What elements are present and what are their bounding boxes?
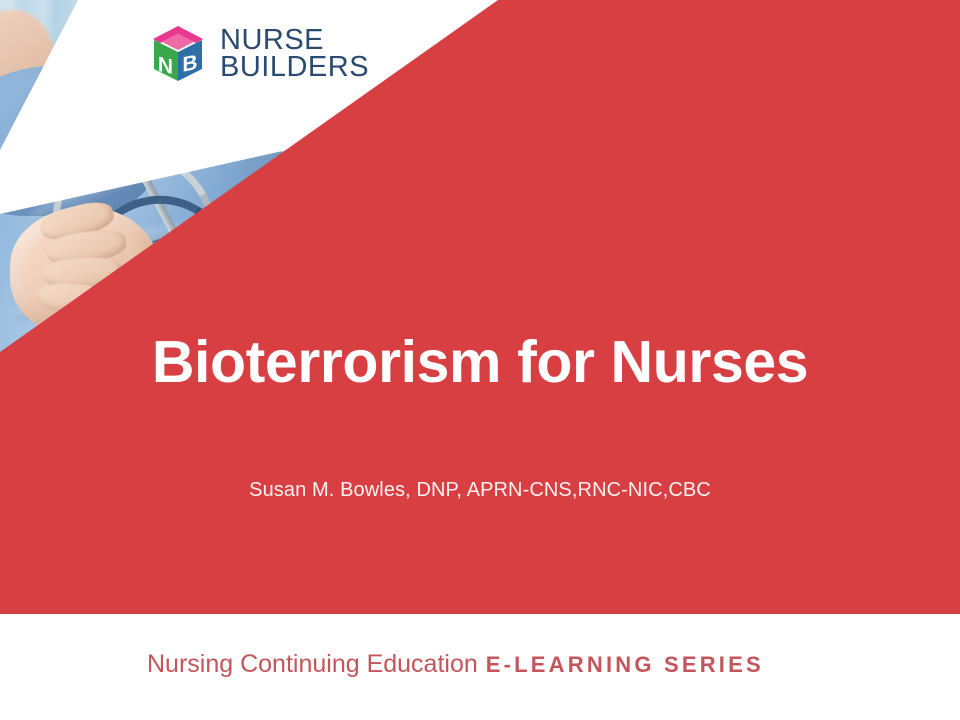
nurse-builders-cube-logo-icon: N B <box>149 24 207 84</box>
footer: Nursing Continuing EducationE-LEARNING S… <box>147 650 764 679</box>
svg-text:B: B <box>182 51 197 77</box>
wordmark-line-builders: Builders <box>220 54 369 81</box>
footer-program-name: Nursing Continuing Education <box>147 650 478 678</box>
nurse-builders-wordmark: Nurse Builders <box>220 27 369 80</box>
wordmark-line-nurse: Nurse <box>220 27 369 54</box>
svg-text:N: N <box>158 53 173 79</box>
title-slide: N B Nurse Builders Bioterrorism for Nurs… <box>0 0 960 720</box>
slide-title: Bioterrorism for Nurses <box>0 332 960 394</box>
slide-author-subtitle: Susan M. Bowles, DNP, APRN-CNS,RNC-NIC,C… <box>0 479 960 502</box>
footer-series-label: E-LEARNING SERIES <box>486 652 764 677</box>
nurse-builders-logo: N B Nurse Builders <box>149 24 369 84</box>
